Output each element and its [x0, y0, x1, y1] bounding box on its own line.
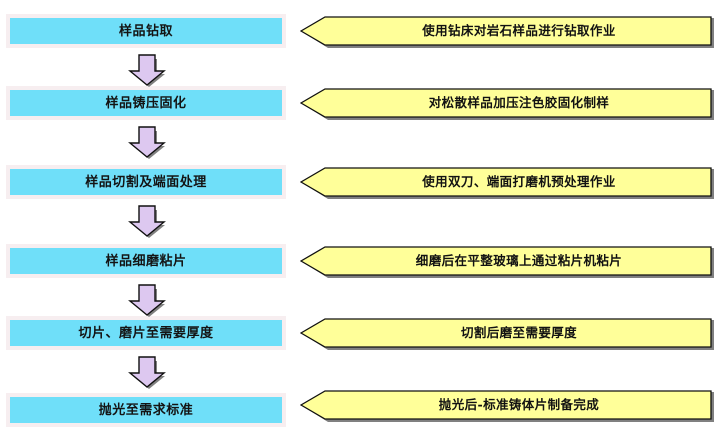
annotation-label: 使用双刀、端面打磨机预处理作业	[330, 167, 708, 197]
process-step-2[interactable]: 样品铸压固化	[6, 86, 286, 120]
connector-arrow-5-6	[126, 354, 170, 390]
process-box: 切片、磨片至需要厚度	[6, 316, 286, 350]
down-arrow-icon	[126, 203, 170, 239]
process-box-fill: 样品铸压固化	[10, 90, 282, 116]
annotation-callout-6[interactable]: 抛光后-标准铸体片制备完成	[300, 390, 716, 424]
process-label: 样品细磨粘片	[105, 255, 186, 268]
annotation-label: 对松散样品加压注色胶固化制样	[330, 88, 708, 118]
down-arrow-icon	[126, 52, 170, 88]
process-label: 样品铸压固化	[105, 97, 186, 110]
process-box: 抛光至需求标准	[6, 393, 286, 427]
process-box: 样品切割及端面处理	[6, 165, 286, 199]
process-label: 样品切割及端面处理	[85, 176, 207, 189]
annotation-callout-3[interactable]: 使用双刀、端面打磨机预处理作业	[300, 167, 716, 201]
process-flowchart: 样品钻取 样品铸压固化 样品切割及端面处理 样品细磨粘片 切片、磨片至需要厚度	[0, 0, 720, 430]
annotation-label: 使用钻床对岩石样品进行钻取作业	[330, 16, 708, 46]
process-step-5[interactable]: 切片、磨片至需要厚度	[6, 316, 286, 350]
annotation-label: 切割后磨至需要厚度	[330, 318, 708, 348]
annotation-callout-5[interactable]: 切割后磨至需要厚度	[300, 318, 716, 352]
connector-arrow-2-3	[126, 124, 170, 160]
down-arrow-icon	[126, 282, 170, 318]
process-box-fill: 抛光至需求标准	[10, 397, 282, 423]
connector-arrow-1-2	[126, 52, 170, 88]
annotation-label: 细磨后在平整玻璃上通过粘片机粘片	[330, 246, 708, 276]
connector-arrow-3-4	[126, 203, 170, 239]
process-step-1[interactable]: 样品钻取	[6, 14, 286, 48]
down-arrow-icon	[126, 124, 170, 160]
annotation-label: 抛光后-标准铸体片制备完成	[330, 390, 708, 420]
process-box: 样品铸压固化	[6, 86, 286, 120]
process-label: 切片、磨片至需要厚度	[78, 327, 213, 340]
annotation-callout-4[interactable]: 细磨后在平整玻璃上通过粘片机粘片	[300, 246, 716, 280]
process-step-3[interactable]: 样品切割及端面处理	[6, 165, 286, 199]
annotation-callout-2[interactable]: 对松散样品加压注色胶固化制样	[300, 88, 716, 122]
process-label: 抛光至需求标准	[99, 404, 194, 417]
process-box: 样品钻取	[6, 14, 286, 48]
process-box-fill: 样品钻取	[10, 18, 282, 44]
annotation-callout-1[interactable]: 使用钻床对岩石样品进行钻取作业	[300, 16, 716, 50]
connector-arrow-4-5	[126, 282, 170, 318]
down-arrow-icon	[126, 354, 170, 390]
process-step-4[interactable]: 样品细磨粘片	[6, 244, 286, 278]
process-step-6[interactable]: 抛光至需求标准	[6, 393, 286, 427]
process-box-fill: 样品切割及端面处理	[10, 169, 282, 195]
process-label: 样品钻取	[119, 25, 173, 38]
process-box-fill: 切片、磨片至需要厚度	[10, 320, 282, 346]
process-box: 样品细磨粘片	[6, 244, 286, 278]
process-box-fill: 样品细磨粘片	[10, 248, 282, 274]
